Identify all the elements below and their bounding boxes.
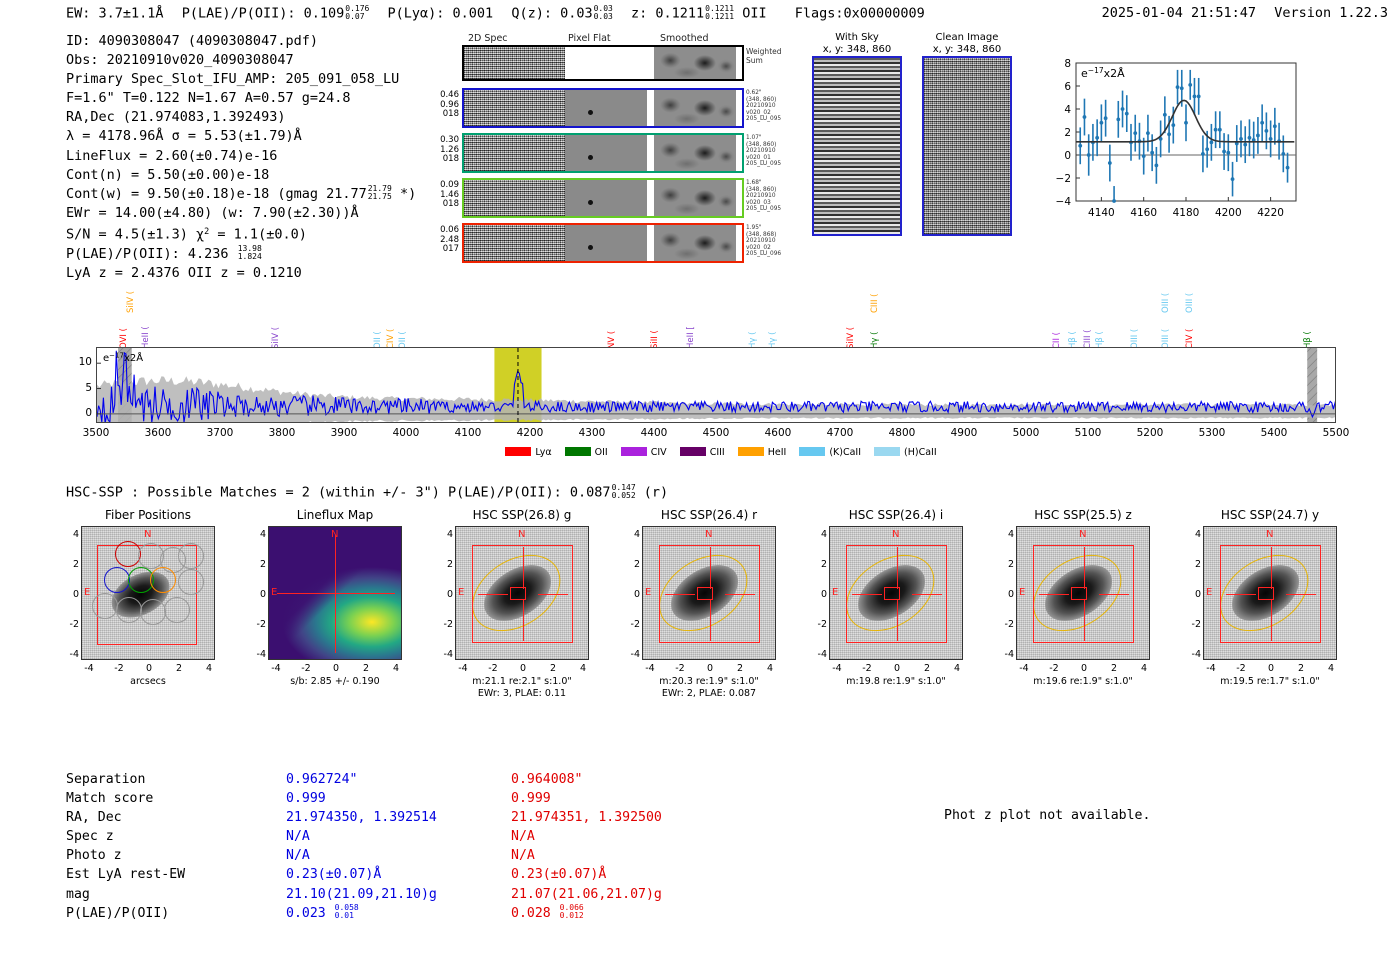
cutout-ytick: -4 [627, 649, 640, 660]
compass-n: N [331, 529, 338, 540]
emission-line-label: OII ( [373, 307, 383, 349]
cutout-ytick: 4 [253, 529, 266, 540]
compass-e: E [458, 587, 464, 598]
emission-line-label: SiII ( [650, 307, 660, 349]
spectrum-xtick: 5300 [1190, 427, 1234, 439]
cutout-xtick: 4 [202, 663, 216, 674]
table-row: Est LyA rest-EW0.23(±0.07)Å0.23(±0.07)Å [66, 865, 811, 884]
spectrum-xtick: 5500 [1314, 427, 1358, 439]
montage-row-metrics: 0.062.48017 [438, 226, 462, 255]
match-row-value-2: 0.964008" [511, 770, 811, 789]
compass-n: N [892, 529, 899, 540]
montage-title-2dspec: 2D Spec [468, 33, 508, 44]
cutout-ytick: 2 [1188, 559, 1201, 570]
match-row-value-1: 21.974350, 1.392514 [286, 808, 511, 827]
match-row-value-1: 0.962724" [286, 770, 511, 789]
cutout-ytick: 0 [1001, 589, 1014, 600]
cutout-xtick: 2 [733, 663, 747, 674]
cutout-xtick: -4 [456, 663, 470, 674]
cutout-xtick: 2 [920, 663, 934, 674]
cutout-ytick: 4 [440, 529, 453, 540]
svg-text:4200: 4200 [1215, 207, 1242, 219]
svg-text:−2: −2 [1056, 173, 1071, 185]
svg-text:−4: −4 [1056, 196, 1072, 208]
match-row-value-2: N/A [511, 846, 811, 865]
match-table: Separation0.962724"0.964008"Match score0… [66, 770, 811, 923]
montage-title-pixelflat: Pixel Flat [568, 33, 611, 44]
cutout-image[interactable]: NE-4-4-2-2002244 [81, 526, 215, 660]
full-spectrum-svg: e−17x2Å [97, 348, 1336, 423]
compass-e: E [1019, 587, 1025, 598]
fiber-2dspec-image [464, 135, 565, 171]
legend-swatch [738, 447, 764, 456]
cutout-xtick: 2 [1107, 663, 1121, 674]
match-row-value-2: 21.07(21.06,21.07)g [511, 885, 811, 904]
match-row-value-1: N/A [286, 846, 511, 865]
svg-text:6: 6 [1064, 81, 1071, 93]
cutout-caption-1: m:21.1 re:2.1" s:1.0" [429, 676, 615, 688]
twod-spectrum-montage: 2D Spec Pixel Flat Smoothed WeightedSum … [438, 33, 768, 238]
emission-line-label: HeII [ [686, 307, 696, 349]
cutout-ytick: 4 [814, 529, 827, 540]
montage-fiber-info: 0.62"(348, 860)20210910v020_02205_LU_095 [746, 90, 796, 123]
weighted-2dspec-image [464, 47, 565, 79]
emission-line-label: Hβ ( [1303, 307, 1313, 349]
header-summary-line: EW: 3.7±1.1Å P(LAE)/P(OII): 0.1090.1760.… [66, 5, 925, 21]
weighted-sum-label: WeightedSum [746, 47, 796, 65]
object-info-block: ID: 4090308047 (4090308047.pdf) Obs: 202… [66, 32, 416, 283]
cutout-xtick: 4 [950, 663, 964, 674]
info-cont-w: Cont(w) = 9.50(±0.18)e-18 (gmag 21.7721.… [66, 185, 416, 204]
emission-line-label: Hβ ( [1095, 307, 1105, 349]
header-flags: Flags:0x00000009 [795, 5, 925, 21]
cutout-ytick: -2 [66, 619, 79, 630]
cutout-ytick: 2 [66, 559, 79, 570]
compass-n: N [1266, 529, 1273, 540]
header-plae-value: 0.109 [304, 5, 345, 21]
emission-line-label: SiIV ( [846, 307, 856, 349]
cutout-ytick: 4 [1188, 529, 1201, 540]
emission-line-label: OIII ( [1161, 273, 1171, 313]
cutout-ytick: -4 [66, 649, 79, 660]
clean-image-panel: Clean Image x, y: 348, 860 [922, 32, 1012, 236]
cutout-xtick: 4 [763, 663, 777, 674]
emission-line-label: CIV ( [1185, 307, 1195, 349]
cutout-title: HSC SSP(26.8) g [429, 508, 615, 526]
match-row-value-2: N/A [511, 827, 811, 846]
clean-image-image [922, 56, 1012, 236]
fiber-2dspec-image [464, 225, 565, 261]
legend-swatch [799, 447, 825, 456]
cutout-ytick: 0 [253, 589, 266, 600]
match-row-label: Separation [66, 770, 286, 789]
spectrum-xtick: 3800 [260, 427, 304, 439]
match-row-value-1: 0.999 [286, 789, 511, 808]
emission-line-label: Hβ ( [1068, 307, 1078, 349]
spectrum-xtick: 5200 [1128, 427, 1172, 439]
svg-text:4160: 4160 [1130, 207, 1157, 219]
hsc-ssp-headline: HSC-SSP : Possible Matches = 2 (within +… [66, 484, 668, 500]
spectrum-xtick: 3600 [136, 427, 180, 439]
info-radec: RA,Dec (21.974083,1.392493) [66, 108, 416, 127]
legend-entry: (H)CaII [874, 447, 937, 458]
cutout-xtick: -4 [830, 663, 844, 674]
header-z-type: OII [742, 5, 766, 21]
cutout-ytick: 0 [814, 589, 827, 600]
cutout-title: HSC SSP(25.5) z [990, 508, 1176, 526]
header-z: z: 0.1211 [631, 5, 704, 21]
info-primary-spec: Primary Spec_Slot_IFU_AMP: 205_091_058_L… [66, 70, 416, 89]
montage-row-metrics: 0.301.26018 [438, 136, 462, 165]
cutout-panel-2: HSC SSP(26.8) gNE-4-4-2-2002244m:21.1 re… [429, 508, 615, 700]
cutout-ytick: -4 [440, 649, 453, 660]
cutout-xtick: 0 [890, 663, 904, 674]
compass-e: E [832, 587, 838, 598]
emission-line-label: OIII ( [1130, 307, 1140, 349]
match-row-value-1: 0.23(±0.07)Å [286, 865, 511, 884]
emission-line-label: CII ( [1052, 307, 1062, 349]
cutout-title: Fiber Positions [55, 508, 241, 526]
legend-entry: OII [565, 447, 608, 458]
cutout-xtick: 4 [389, 663, 403, 674]
compass-e: E [1206, 587, 1212, 598]
spectrum-xtick: 5000 [1004, 427, 1048, 439]
fiber-pixelflat-image [565, 180, 647, 216]
emission-line-label: OII ( [398, 307, 408, 349]
cutout-ytick: -2 [627, 619, 640, 630]
spectrum-xtick: 4200 [508, 427, 552, 439]
full-spectrum-panel: SiIV (OVI (HeII (SiIV (OII (CIV (OII (NV… [66, 265, 1376, 465]
match-row-value-2: 0.999 [511, 789, 811, 808]
fiber-circle [116, 597, 142, 623]
legend-label: HeII [768, 447, 787, 458]
spectrum-ytick: 0 [66, 407, 92, 419]
table-row: P(LAE)/P(OII)0.023 0.0580.010.028 0.0660… [66, 904, 811, 923]
match-row-label: mag [66, 885, 286, 904]
info-plae-poii: P(LAE)/P(OII): 4.236 13.981.824 [66, 245, 416, 264]
svg-text:8: 8 [1064, 58, 1071, 70]
cutout-xtick: 0 [1077, 663, 1091, 674]
match-table-grid: Separation0.962724"0.964008"Match score0… [66, 770, 811, 923]
emission-line-label: HeII ( [141, 307, 151, 349]
cutout-xtick: 4 [576, 663, 590, 674]
cutout-xtick: -2 [299, 663, 313, 674]
legend-swatch [505, 447, 531, 456]
cutout-image[interactable]: NE-4-4-2-2002244 [829, 526, 963, 660]
cutout-xtick: 0 [1264, 663, 1278, 674]
cutout-title: HSC SSP(24.7) y [1177, 508, 1363, 526]
match-row-label: Spec z [66, 827, 286, 846]
montage-fiber-info: 1.68"(348, 860)20210910v020_03205_LU_095 [746, 180, 796, 213]
montage-row-metrics: 0.460.96018 [438, 91, 462, 120]
cutout-caption-1: m:19.5 re:1.7" s:1.0" [1177, 676, 1363, 688]
info-obs: Obs: 20210910v020_4090308047 [66, 51, 416, 70]
montage-fiber-info: 1.95"(348, 868)20210910v020_02205_LU_096 [746, 225, 796, 258]
cutout-ytick: 0 [627, 589, 640, 600]
fiber-circle [140, 599, 166, 625]
cutout-caption-1: m:19.6 re:1.9" s:1.0" [990, 676, 1176, 688]
montage-fiber-row [462, 133, 744, 173]
emission-line-label: CIV ( [386, 307, 396, 349]
emission-line-label: NV ( [607, 307, 617, 349]
cutout-xtick: -2 [860, 663, 874, 674]
spectrum-xtick: 4300 [570, 427, 614, 439]
cutout-xtick: -4 [1204, 663, 1218, 674]
cutout-xtick: 4 [1137, 663, 1151, 674]
table-row: RA, Dec21.974350, 1.39251421.974351, 1.3… [66, 808, 811, 827]
legend-label: CIII [710, 447, 725, 458]
info-lineflux: LineFlux = 2.60(±0.74)e-16 [66, 147, 416, 166]
montage-fiber-row [462, 88, 744, 128]
cutout-xtick: 4 [1324, 663, 1338, 674]
info-sn-chi2: S/N = 4.5(±1.3) χ2 = 1.1(±0.0) [66, 223, 416, 245]
table-row: Separation0.962724"0.964008" [66, 770, 811, 789]
legend-swatch [680, 447, 706, 456]
cutout-xtick: -4 [1017, 663, 1031, 674]
cutout-ytick: 2 [253, 559, 266, 570]
spectrum-xtick: 3900 [322, 427, 366, 439]
compass-e: E [84, 587, 90, 598]
spectrum-xtick: 4600 [756, 427, 800, 439]
montage-fiber-row [462, 178, 744, 218]
cutout-image[interactable]: NE-4-4-2-2002244 [1203, 526, 1337, 660]
timestamp: 2025-01-04 21:51:47 [1102, 5, 1256, 21]
full-spectrum-legend: LyαOIICIVCIIIHeII(K)CaII(H)CaII [66, 447, 1376, 458]
legend-label: (H)CaII [904, 447, 937, 458]
spectrum-xtick: 4400 [632, 427, 676, 439]
legend-entry: CIV [621, 447, 667, 458]
legend-label: (K)CaII [829, 447, 861, 458]
emission-line-label: OIII ( [1161, 307, 1171, 349]
fiber-circle [178, 543, 204, 569]
svg-text:e−17x2Å: e−17x2Å [103, 351, 143, 364]
spectrum-xtick: 5400 [1252, 427, 1296, 439]
montage-fiber-row [462, 223, 744, 263]
cutout-xtick: -2 [486, 663, 500, 674]
match-row-label: Photo z [66, 846, 286, 865]
cutout-ytick: -2 [440, 619, 453, 630]
fiber-pixelflat-image [565, 135, 647, 171]
cutout-caption-1: s/b: 2.85 +/- 0.190 [242, 676, 428, 688]
svg-text:2: 2 [1064, 127, 1071, 139]
emission-line-label: CIII ( [870, 273, 880, 313]
svg-text:4180: 4180 [1173, 207, 1200, 219]
svg-text:e−17x2Å: e−17x2Å [1081, 66, 1125, 80]
header-z-errors: 0.12110.1211 [705, 5, 734, 20]
emission-line-label: OVI ( [119, 307, 129, 349]
cutout-xlabel: arcsecs [55, 676, 241, 688]
svg-text:4140: 4140 [1088, 207, 1115, 219]
montage-row-metrics: 0.091.46018 [438, 181, 462, 210]
emission-line-label: Hγ ( [748, 307, 758, 349]
emission-line-label: Hγ ( [870, 307, 880, 349]
spectrum-xtick: 4100 [446, 427, 490, 439]
cutout-xtick: -4 [269, 663, 283, 674]
cutout-ytick: 4 [1001, 529, 1014, 540]
hsc-headline-text: HSC-SSP : Possible Matches = 2 (within +… [66, 484, 611, 500]
legend-entry: Lyα [505, 447, 551, 458]
cutout-ytick: 2 [814, 559, 827, 570]
cutout-image[interactable]: NE-4-4-2-2002244 [268, 526, 402, 660]
fiber-circle [178, 569, 204, 595]
cutout-panel-6: HSC SSP(24.7) yNE-4-4-2-2002244m:19.5 re… [1177, 508, 1363, 688]
legend-label: Lyα [535, 447, 551, 458]
compass-n: N [144, 529, 151, 540]
fiber-circle [150, 567, 176, 593]
legend-label: OII [595, 447, 608, 458]
cutout-image[interactable]: NE-4-4-2-2002244 [642, 526, 776, 660]
clean-image-title: Clean Image [922, 32, 1012, 44]
cutout-ytick: 0 [1188, 589, 1201, 600]
version: Version 1.22.3 [1274, 5, 1388, 21]
cutout-ytick: -4 [814, 649, 827, 660]
cutout-panel-3: HSC SSP(26.4) rNE-4-4-2-2002244m:20.3 re… [616, 508, 802, 700]
cutout-xtick: 0 [329, 663, 343, 674]
cutout-ytick: 0 [66, 589, 79, 600]
cutout-title: HSC SSP(26.4) r [616, 508, 802, 526]
svg-text:4: 4 [1064, 104, 1071, 116]
header-qz: Q(z): 0.03 [511, 5, 592, 21]
cutout-xtick: 2 [172, 663, 186, 674]
legend-entry: CIII [680, 447, 725, 458]
with-sky-panel: With Sky x, y: 348, 860 [812, 32, 902, 236]
cutout-ytick: 4 [66, 529, 79, 540]
svg-text:0: 0 [1064, 150, 1071, 162]
cutout-image[interactable]: NE-4-4-2-2002244 [455, 526, 589, 660]
table-row: Match score0.9990.999 [66, 789, 811, 808]
fiber-pixelflat-image [565, 225, 647, 261]
line-fit-svg: −4−20246841404160418042004220e−17x2Å [1040, 57, 1302, 227]
cutout-xtick: 0 [142, 663, 156, 674]
cutout-ytick: -2 [1188, 619, 1201, 630]
hsc-headline-errors: 0.1470.052 [612, 484, 636, 499]
match-row-value-2: 21.974351, 1.392500 [511, 808, 811, 827]
fiber-smoothed-image [654, 225, 736, 261]
emission-line-label: OIII ( [1185, 273, 1195, 313]
cutout-xtick: 2 [546, 663, 560, 674]
header-plya: P(Lyα): 0.001 [388, 5, 494, 21]
fiber-circle [164, 597, 190, 623]
cutout-image[interactable]: NE-4-4-2-2002244 [1016, 526, 1150, 660]
cutout-panel-0: Fiber PositionsNE-4-4-2-2002244arcsecs [55, 508, 241, 688]
fiber-2dspec-image [464, 180, 565, 216]
cutout-xtick: 0 [703, 663, 717, 674]
table-row: Photo zN/AN/A [66, 846, 811, 865]
cutout-xtick: -2 [1047, 663, 1061, 674]
weighted-smoothed-image [654, 47, 736, 79]
fiber-circle [92, 593, 118, 619]
cutout-caption-2: EWr: 3, PLAE: 0.11 [429, 688, 615, 700]
table-row: Spec zN/AN/A [66, 827, 811, 846]
header-ew: EW: 3.7±1.1Å [66, 5, 164, 21]
match-row-value-2: 0.23(±0.07)Å [511, 865, 811, 884]
fiber-smoothed-image [654, 135, 736, 171]
spectrum-xtick: 5100 [1066, 427, 1110, 439]
header-timestamp-version: 2025-01-04 21:51:47 Version 1.22.3 [1102, 5, 1388, 21]
compass-n: N [518, 529, 525, 540]
legend-swatch [621, 447, 647, 456]
montage-fiber-info: 1.07"(348, 860)20210910v020_01205_LU_095 [746, 135, 796, 168]
spectrum-xtick: 4700 [818, 427, 862, 439]
spectrum-xtick: 4900 [942, 427, 986, 439]
cutout-ytick: 4 [627, 529, 640, 540]
cutout-ytick: -4 [1001, 649, 1014, 660]
match-row-value-2: 0.028 0.0660.012 [511, 904, 811, 923]
compass-e: E [645, 587, 651, 598]
cutout-xtick: 0 [516, 663, 530, 674]
compass-e: E [271, 587, 277, 598]
table-row: mag21.10(21.09,21.10)g21.07(21.06,21.07)… [66, 885, 811, 904]
fiber-2dspec-image [464, 90, 565, 126]
line-fit-plot: −4−20246841404160418042004220e−17x2Å [1040, 57, 1302, 227]
legend-entry: (K)CaII [799, 447, 861, 458]
cutout-caption-1: m:19.8 re:1.9" s:1.0" [803, 676, 989, 688]
compass-n: N [705, 529, 712, 540]
clean-image-coords: x, y: 348, 860 [922, 44, 1012, 56]
spectrum-ytick: 5 [66, 382, 92, 394]
fiber-smoothed-image [654, 90, 736, 126]
info-seeing: F=1.6" T=0.122 N=1.67 A=0.57 g=24.8 [66, 89, 416, 108]
header-plae-label: P(LAE)/P(OII): [182, 5, 296, 21]
cutout-panel-1: Lineflux MapNE-4-4-2-2002244s/b: 2.85 +/… [242, 508, 428, 688]
cutout-title: Lineflux Map [242, 508, 428, 526]
cutout-panel-5: HSC SSP(25.5) zNE-4-4-2-2002244m:19.6 re… [990, 508, 1176, 688]
spectrum-xtick: 4500 [694, 427, 738, 439]
header-qz-errors: 0.030.03 [594, 5, 613, 20]
cutout-ytick: -2 [1001, 619, 1014, 630]
info-ewr: EWr = 14.00(±4.80) (w: 7.90(±2.30))Å [66, 204, 416, 223]
photoz-note: Phot z plot not available. [944, 808, 1150, 823]
with-sky-image [812, 56, 902, 236]
cutout-ytick: -4 [253, 649, 266, 660]
cutout-xtick: -4 [82, 663, 96, 674]
spectrum-xtick: 4800 [880, 427, 924, 439]
cutout-caption-2: EWr: 2, PLAE: 0.087 [616, 688, 802, 700]
cutout-xtick: -2 [112, 663, 126, 674]
cutout-ytick: 2 [627, 559, 640, 570]
hsc-headline-band: (r) [644, 484, 668, 500]
spectrum-xtick: 4000 [384, 427, 428, 439]
montage-title-smoothed: Smoothed [660, 33, 709, 44]
compass-n: N [1079, 529, 1086, 540]
emission-line-label: CIII ( [1083, 307, 1093, 349]
cutout-ytick: 2 [440, 559, 453, 570]
match-row-value-1: N/A [286, 827, 511, 846]
fiber-pixelflat-image [565, 90, 647, 126]
emission-line-label: SiIV ( [271, 307, 281, 349]
cutout-xtick: -4 [643, 663, 657, 674]
match-row-label: Match score [66, 789, 286, 808]
match-row-label: RA, Dec [66, 808, 286, 827]
fiber-circle [104, 567, 130, 593]
legend-swatch [874, 447, 900, 456]
match-row-label: P(LAE)/P(OII) [66, 904, 286, 923]
match-row-value-1: 21.10(21.09,21.10)g [286, 885, 511, 904]
cutout-ytick: 2 [1001, 559, 1014, 570]
cutout-ytick: -2 [814, 619, 827, 630]
cutout-xtick: 2 [359, 663, 373, 674]
match-row-label: Est LyA rest-EW [66, 865, 286, 884]
cutout-xtick: -2 [1234, 663, 1248, 674]
cutout-xtick: -2 [673, 663, 687, 674]
header-plae-errors: 0.1760.07 [345, 5, 369, 20]
fiber-smoothed-image [654, 180, 736, 216]
legend-swatch [565, 447, 591, 456]
cutout-ytick: 0 [440, 589, 453, 600]
legend-entry: HeII [738, 447, 787, 458]
with-sky-coords: x, y: 348, 860 [812, 44, 902, 56]
weighted-pixelflat-image [565, 47, 647, 79]
